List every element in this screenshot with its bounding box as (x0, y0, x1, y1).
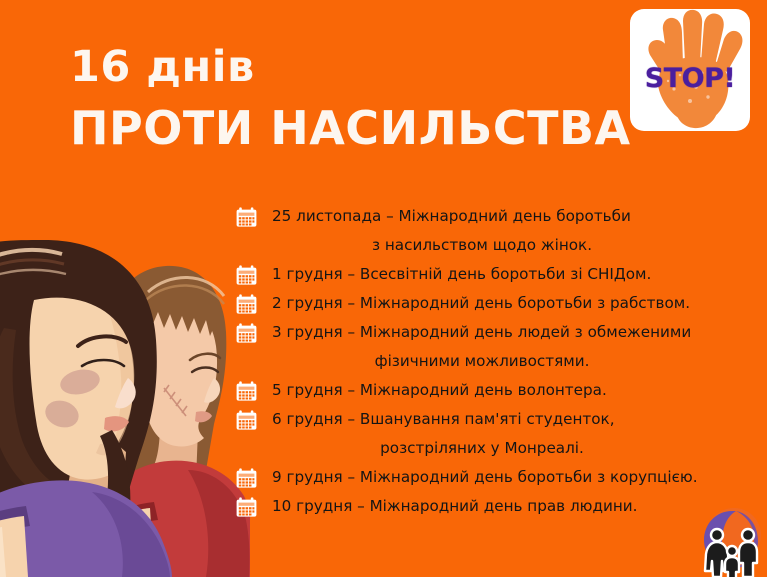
event-text-primary: 25 листопада – Міжнародний день боротьби (232, 202, 752, 231)
calendar-icon (236, 265, 257, 285)
poster-canvas: 16 днів ПРОТИ НАСИЛЬСТВА (0, 0, 767, 577)
event-text-primary: 3 грудня – Міжнародний день людей з обме… (232, 318, 752, 347)
calendar-icon (236, 381, 257, 401)
calendar-icon (236, 294, 257, 314)
event-text-primary: 1 грудня – Всесвітній день боротьби зі С… (232, 260, 752, 289)
event-text-primary: 6 грудня – Вшанування пам'яті студенток, (232, 405, 752, 434)
title-line-1: 16 днів (70, 46, 631, 89)
event-item: 6 грудня – Вшанування пам'яті студенток,… (232, 405, 752, 463)
event-text-primary: 2 грудня – Міжнародний день боротьби з р… (232, 289, 752, 318)
event-item: 3 грудня – Міжнародний день людей з обме… (232, 318, 752, 376)
event-item: 1 грудня – Всесвітній день боротьби зі С… (232, 260, 752, 289)
event-text-continuation: з насильством щодо жінок. (232, 231, 692, 260)
event-item: 25 листопада – Міжнародний день боротьби… (232, 202, 752, 260)
calendar-icon (236, 410, 257, 430)
calendar-icon (236, 497, 257, 517)
title-line-2: ПРОТИ НАСИЛЬСТВА (70, 105, 631, 151)
calendar-icon (236, 323, 257, 343)
stop-label: STOP! (630, 63, 750, 94)
event-text-continuation: фізичними можливостями. (232, 347, 692, 376)
event-text-primary: 9 грудня – Міжнародний день боротьби з к… (232, 463, 752, 492)
page-title: 16 днів ПРОТИ НАСИЛЬСТВА (70, 46, 631, 151)
stop-logo: STOP! (630, 9, 750, 131)
event-list: 25 листопада – Міжнародний день боротьби… (232, 202, 752, 521)
calendar-icon (236, 468, 257, 488)
event-text-primary: 5 грудня – Міжнародний день волонтера. (232, 376, 752, 405)
event-text-primary: 10 грудня – Міжнародний день прав людини… (232, 492, 752, 521)
event-item: 2 грудня – Міжнародний день боротьби з р… (232, 289, 752, 318)
calendar-icon (236, 207, 257, 227)
event-item: 10 грудня – Міжнародний день прав людини… (232, 492, 752, 521)
family-circle-icon (692, 503, 766, 577)
event-text-continuation: розстріляних у Монреалі. (232, 434, 692, 463)
event-item: 9 грудня – Міжнародний день боротьби з к… (232, 463, 752, 492)
event-item: 5 грудня – Міжнародний день волонтера. (232, 376, 752, 405)
